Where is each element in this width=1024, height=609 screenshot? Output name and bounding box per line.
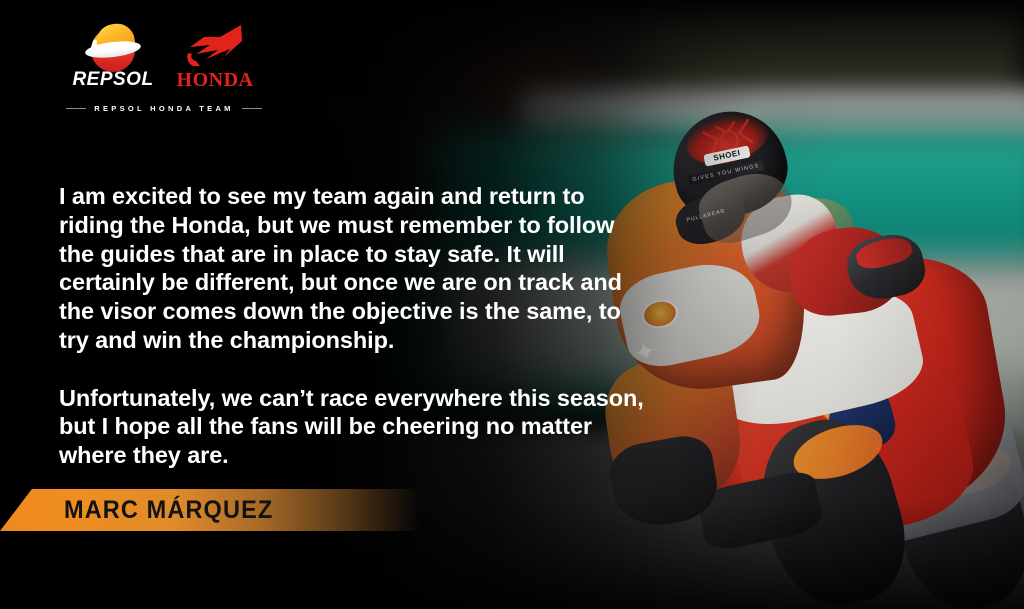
honda-logo: HONDA — [173, 23, 257, 90]
repsol-logo-icon — [85, 24, 141, 68]
honda-wing-icon — [184, 23, 246, 69]
repsol-logo: REPSOL — [71, 24, 155, 90]
team-name-label: REPSOL HONDA TEAM — [94, 104, 233, 113]
team-name-rule: REPSOL HONDA TEAM — [66, 104, 262, 113]
logo-row: REPSOL HONDA — [66, 26, 262, 90]
quote-poster: Repsol 93 SHOEI ✦ — [0, 0, 1024, 609]
quote-paragraph-1: I am excited to see my team again and re… — [59, 182, 649, 355]
quote-text-block: I am excited to see my team again and re… — [59, 182, 649, 470]
attribution-name: MARC MÁRQUEZ — [64, 489, 273, 531]
repsol-wordmark: REPSOL — [71, 70, 155, 90]
honda-wordmark: HONDA — [173, 70, 257, 90]
quote-paragraph-2: Unfortunately, we can’t race everywhere … — [59, 384, 649, 470]
attribution-banner: MARC MÁRQUEZ — [0, 489, 420, 531]
team-logo-lockup: REPSOL HONDA REPSOL HONDA TEAM — [66, 26, 262, 113]
team-rule-left — [66, 108, 86, 109]
team-rule-right — [242, 108, 262, 109]
